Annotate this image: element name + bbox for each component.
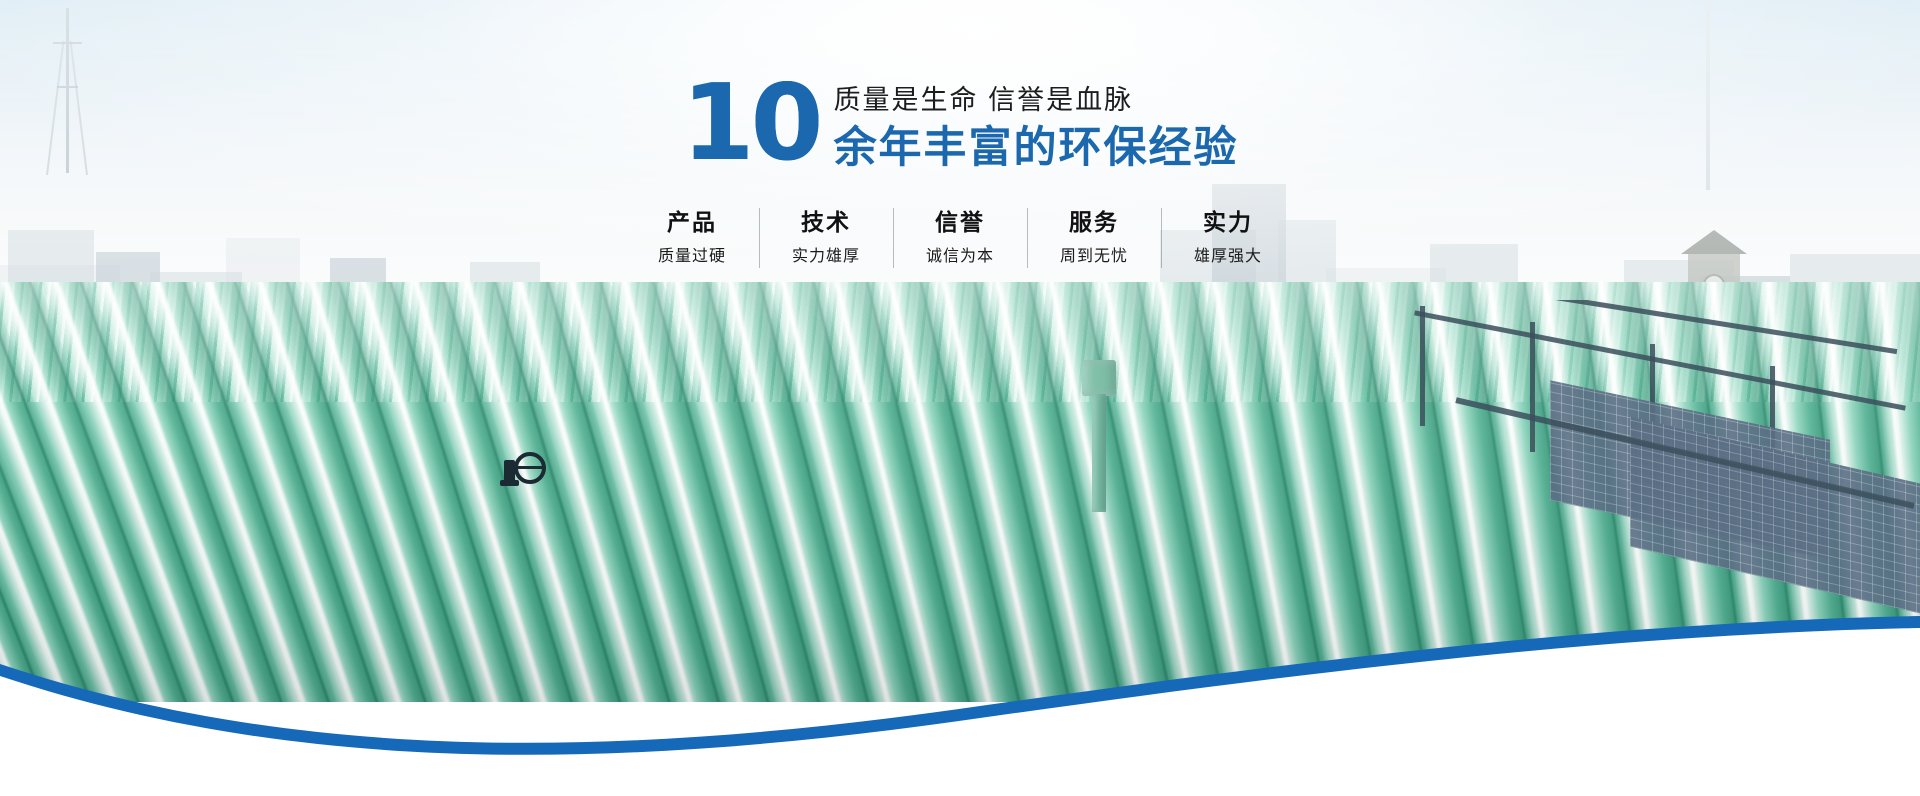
banner-content: 10 质量是生命 信誉是血脉 余年丰富的环保经验 产品质量过硬技术实力雄厚信誉诚… — [0, 0, 1920, 400]
feature-list: 产品质量过硬技术实力雄厚信誉诚信为本服务周到无忧实力雄厚强大 — [0, 208, 1920, 268]
bottom-wave-divider — [0, 496, 1920, 796]
hero-banner: 10 质量是生命 信誉是血脉 余年丰富的环保经验 产品质量过硬技术实力雄厚信誉诚… — [0, 0, 1920, 796]
feature-item-5: 实力雄厚强大 — [1161, 208, 1295, 268]
feature-desc: 实力雄厚 — [792, 247, 860, 268]
feature-title: 服务 — [1069, 208, 1119, 238]
feature-desc: 质量过硬 — [658, 247, 726, 268]
feature-desc: 诚信为本 — [926, 247, 994, 268]
feature-item-4: 服务周到无忧 — [1027, 208, 1161, 268]
feature-title: 技术 — [801, 208, 851, 238]
years-number: 10 — [681, 72, 819, 175]
feature-title: 产品 — [667, 208, 717, 238]
wave-svg — [0, 496, 1920, 796]
feature-item-2: 技术实力雄厚 — [759, 208, 893, 268]
valve-handwheel-icon — [492, 452, 548, 486]
headline-row: 10 质量是生命 信誉是血脉 余年丰富的环保经验 — [0, 78, 1920, 175]
feature-desc: 雄厚强大 — [1194, 247, 1262, 268]
headline-title: 余年丰富的环保经验 — [834, 122, 1239, 174]
feature-title: 实力 — [1203, 208, 1253, 238]
headline-subtitle: 质量是生命 信誉是血脉 — [834, 84, 1239, 118]
feature-item-3: 信誉诚信为本 — [893, 208, 1027, 268]
feature-desc: 周到无忧 — [1060, 247, 1128, 268]
feature-item-1: 产品质量过硬 — [626, 208, 759, 268]
feature-title: 信誉 — [935, 208, 985, 238]
